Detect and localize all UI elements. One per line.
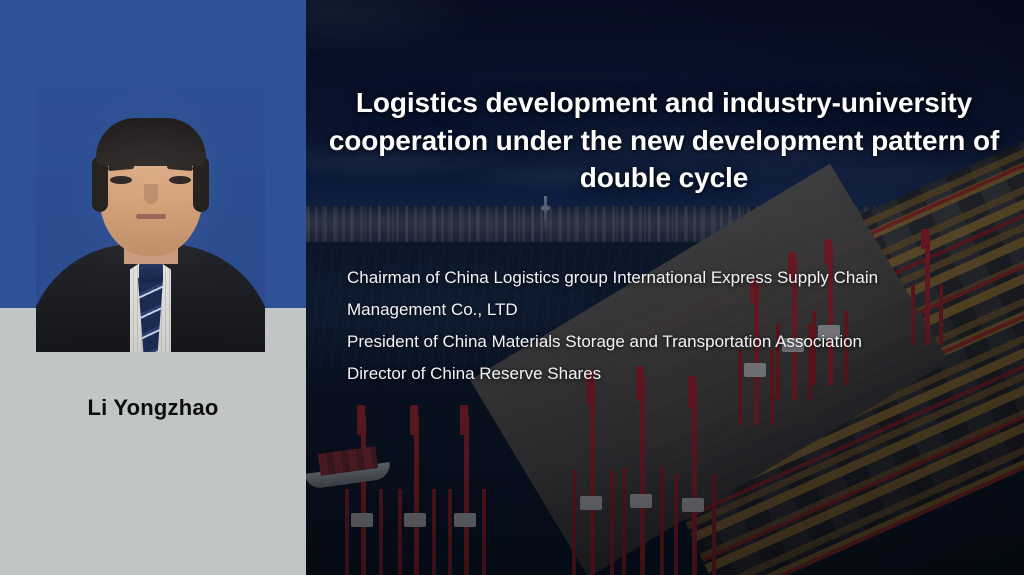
credential-line: President of China Materials Storage and… [347,326,1007,358]
speaker-panel: Li Yongzhao [0,0,306,575]
credential-line: Director of China Reserve Shares [347,358,1007,390]
speaker-credentials: Chairman of China Logistics group Intern… [347,262,1007,390]
portrait-light-glow [36,88,265,352]
speaker-portrait [36,88,265,352]
slide-title: Logistics development and industry-unive… [312,84,1016,197]
presentation-slide: Li Yongzhao Logistics development and in… [0,0,1024,575]
credential-line: Management Co., LTD [347,294,1007,326]
speaker-name: Li Yongzhao [0,395,306,421]
credential-line: Chairman of China Logistics group Intern… [347,262,1007,294]
